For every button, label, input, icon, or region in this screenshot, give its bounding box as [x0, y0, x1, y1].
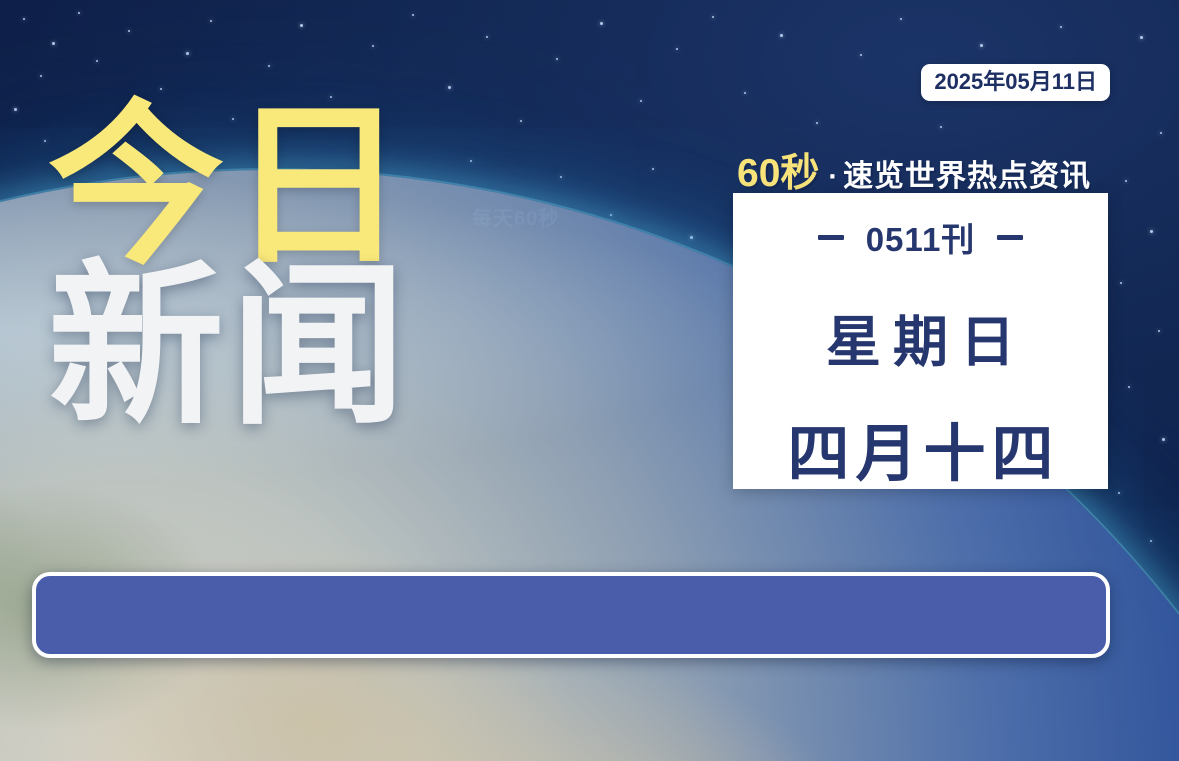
weekday-label: 星期日 — [814, 297, 1027, 377]
dash-left-icon — [818, 235, 844, 240]
tagline-text: 速览世界热点资讯 — [843, 151, 1091, 195]
info-card: 0511刊 星期日 四月十四 — [733, 193, 1108, 489]
tagline-highlight: 60秒 — [737, 142, 819, 198]
tagline-separator: · — [828, 161, 838, 194]
lunar-date-label: 四月十四 — [781, 403, 1059, 493]
tagline: 60秒 · 速览世界热点资讯 — [737, 142, 1091, 198]
poster-title: 今日 新闻 — [48, 100, 488, 434]
date-badge: 2025年05月11日 — [921, 64, 1110, 101]
issue-label: 0511刊 — [866, 213, 976, 261]
issue-row: 0511刊 — [818, 213, 1024, 261]
content-bar — [32, 572, 1110, 658]
poster-canvas: 每天60秒 今日 新闻 2025年05月11日 60秒 · 速览世界热点资讯 0… — [0, 0, 1179, 761]
title-line-xinwen: 新闻 — [48, 260, 488, 434]
dash-right-icon — [997, 235, 1023, 240]
